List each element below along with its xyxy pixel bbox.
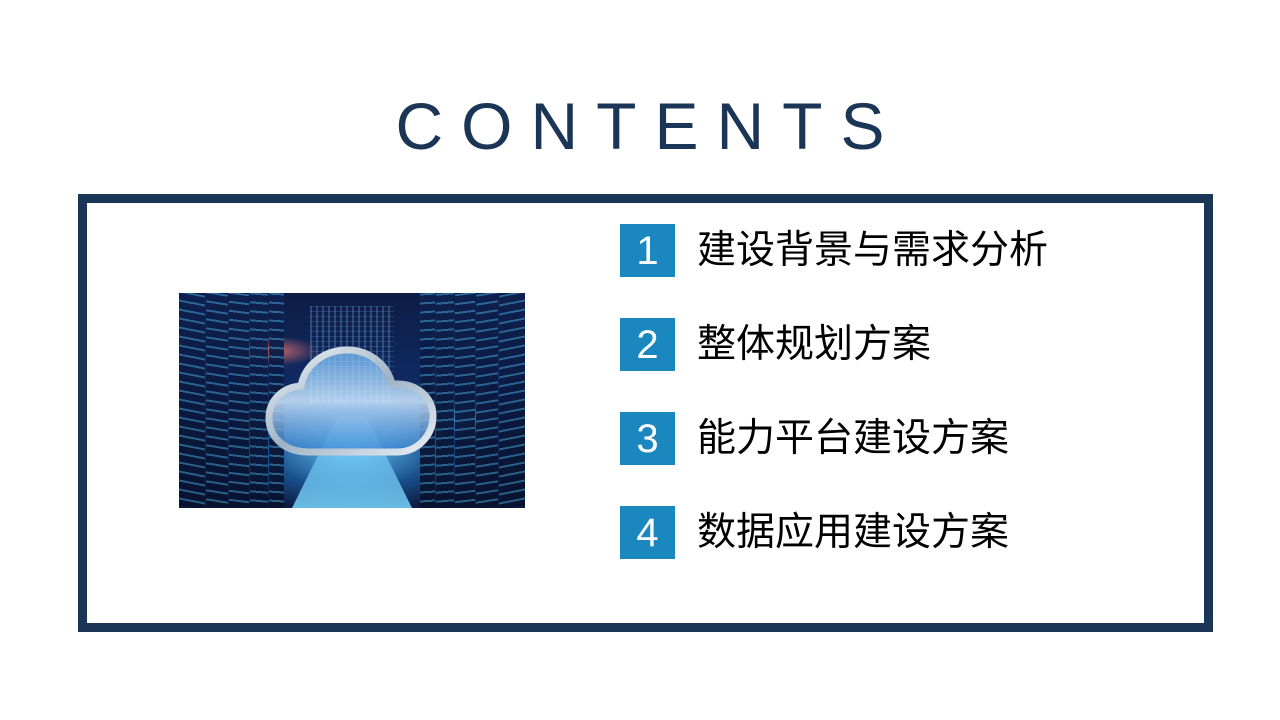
item-number-badge: 4 — [620, 506, 675, 559]
list-item[interactable]: 4 数据应用建设方案 — [620, 506, 1140, 559]
list-item[interactable]: 2 整体规划方案 — [620, 318, 1140, 371]
item-label: 能力平台建设方案 — [697, 412, 1009, 465]
image-scene — [179, 293, 525, 508]
server-rack — [476, 293, 498, 508]
list-item[interactable]: 1 建设背景与需求分析 — [620, 224, 1140, 277]
list-item[interactable]: 3 能力平台建设方案 — [620, 412, 1140, 465]
page-title: CONTENTS — [0, 88, 1280, 164]
item-label: 建设背景与需求分析 — [697, 224, 1048, 277]
data-center-cloud-image — [179, 293, 525, 508]
server-rack — [229, 293, 249, 508]
table-of-contents: 1 建设背景与需求分析 2 整体规划方案 3 能力平台建设方案 4 数据应用建设… — [620, 224, 1140, 559]
server-rack — [499, 293, 525, 508]
server-rack — [206, 293, 228, 508]
server-rack — [179, 293, 205, 508]
slide-canvas: CONTENTS — [0, 0, 1280, 720]
item-label: 数据应用建设方案 — [697, 506, 1009, 559]
item-label: 整体规划方案 — [697, 318, 931, 371]
cloud-icon — [257, 340, 447, 470]
item-number-badge: 3 — [620, 412, 675, 465]
item-number-badge: 2 — [620, 318, 675, 371]
server-rack — [455, 293, 475, 508]
item-number-badge: 1 — [620, 224, 675, 277]
